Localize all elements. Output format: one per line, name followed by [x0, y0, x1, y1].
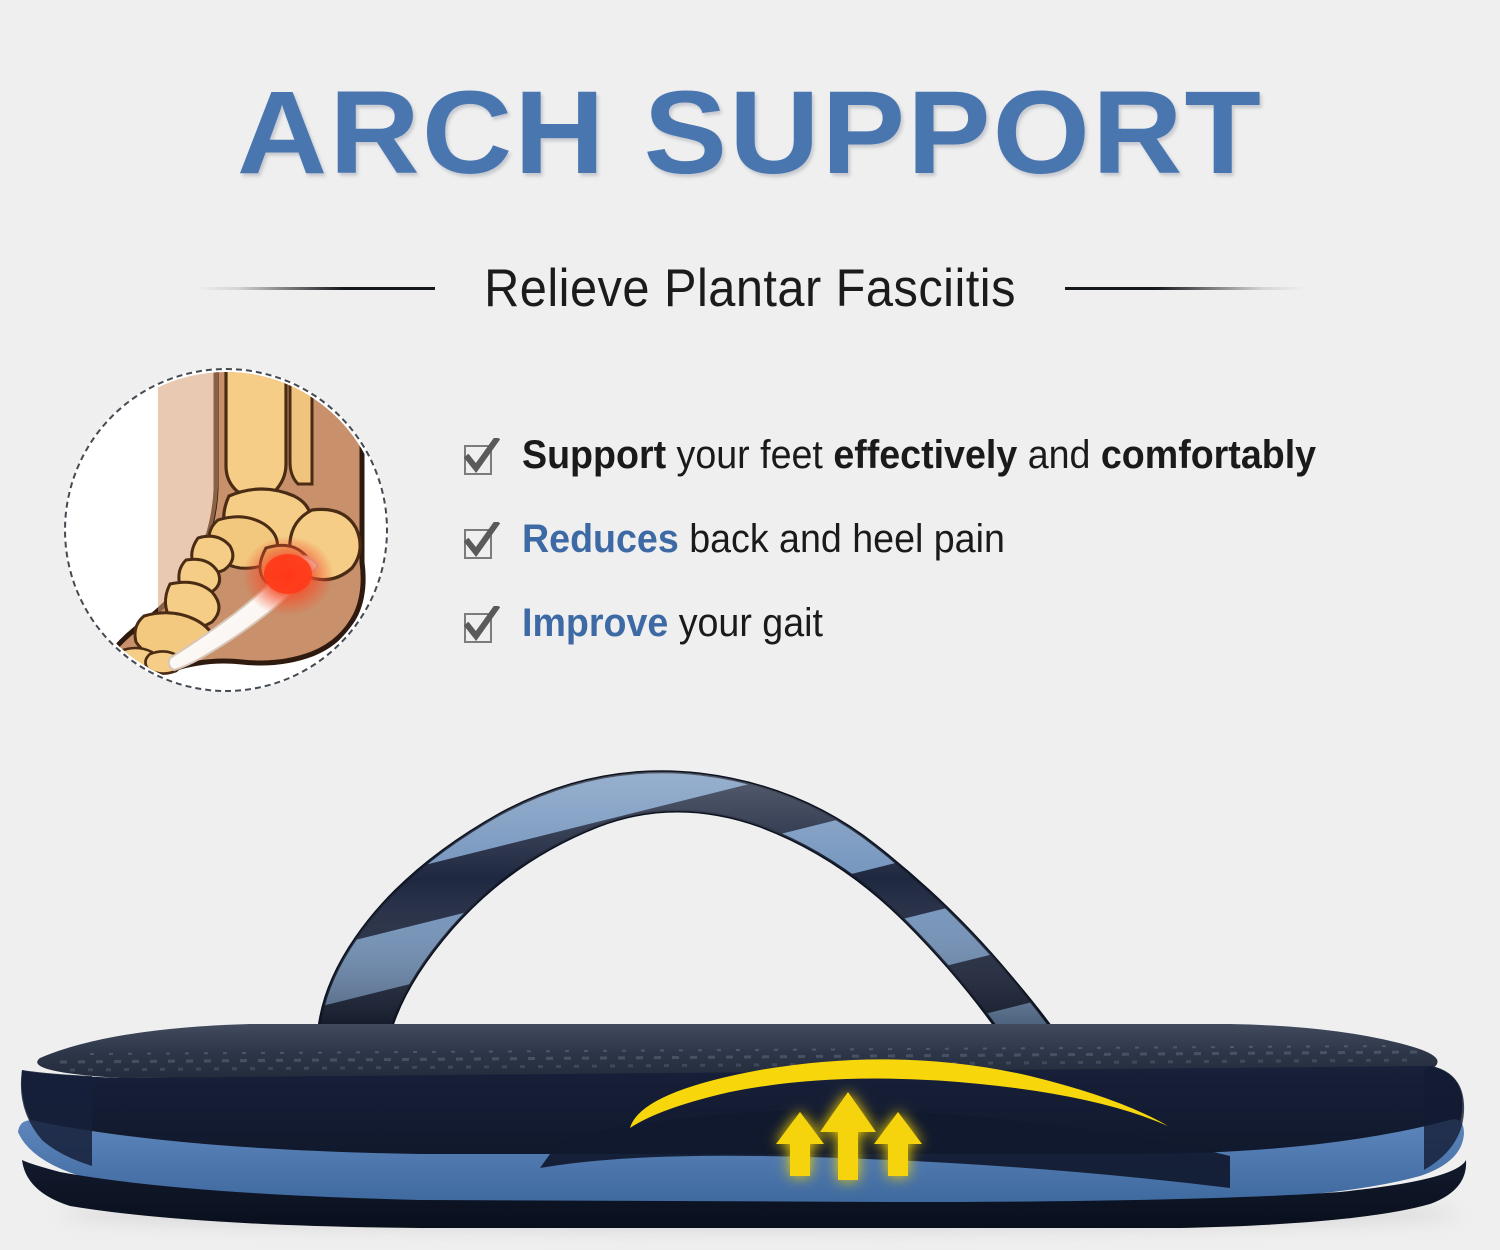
- bullet-3-seg-2: your gait: [668, 601, 823, 645]
- foot-anatomy-svg: [66, 370, 386, 690]
- list-item: Support your feet effectively and comfor…: [462, 432, 1472, 478]
- bullet-1-seg-3: effectively: [833, 433, 1017, 477]
- list-item-label: Reduces back and heel pain: [522, 516, 1005, 562]
- divider-right: [1065, 287, 1305, 290]
- bone-fibula: [290, 370, 312, 484]
- divider-left: [195, 287, 435, 290]
- list-item: Improve your gait: [462, 600, 1472, 646]
- bullet-2-seg-2: back and heel pain: [679, 517, 1005, 561]
- bullet-2-seg-1: Reduces: [522, 517, 679, 561]
- bullet-1-seg-1: Support: [522, 433, 666, 477]
- checked-checkbox-icon: [462, 522, 500, 562]
- benefits-list: Support your feet effectively and comfor…: [462, 432, 1472, 684]
- bullet-3-seg-1: Improve: [522, 601, 668, 645]
- checked-checkbox-icon: [462, 606, 500, 646]
- list-item: Reduces back and heel pain: [462, 516, 1472, 562]
- subtitle: Relieve Plantar Fasciitis: [484, 258, 1016, 319]
- list-item-label: Improve your gait: [522, 600, 823, 646]
- marketing-image: ARCH SUPPORT Relieve Plantar Fasciitis: [0, 0, 1500, 1250]
- inflammation-core: [264, 554, 312, 594]
- product-image: [0, 740, 1500, 1250]
- checked-checkbox-icon: [462, 438, 500, 478]
- bone-tibia: [226, 370, 286, 492]
- page-title: ARCH SUPPORT: [0, 74, 1500, 192]
- bullet-1-seg-4: and: [1017, 433, 1101, 477]
- sandal-svg: [0, 740, 1500, 1250]
- bullet-1-seg-5: comfortably: [1101, 433, 1316, 477]
- foot-anatomy-illustration: [64, 368, 388, 692]
- sandal-sole: [18, 1024, 1466, 1228]
- subtitle-row: Relieve Plantar Fasciitis: [0, 253, 1500, 323]
- bullet-1-seg-2: your feet: [666, 433, 833, 477]
- list-item-label: Support your feet effectively and comfor…: [522, 432, 1316, 478]
- heel-cap: [1424, 1066, 1464, 1170]
